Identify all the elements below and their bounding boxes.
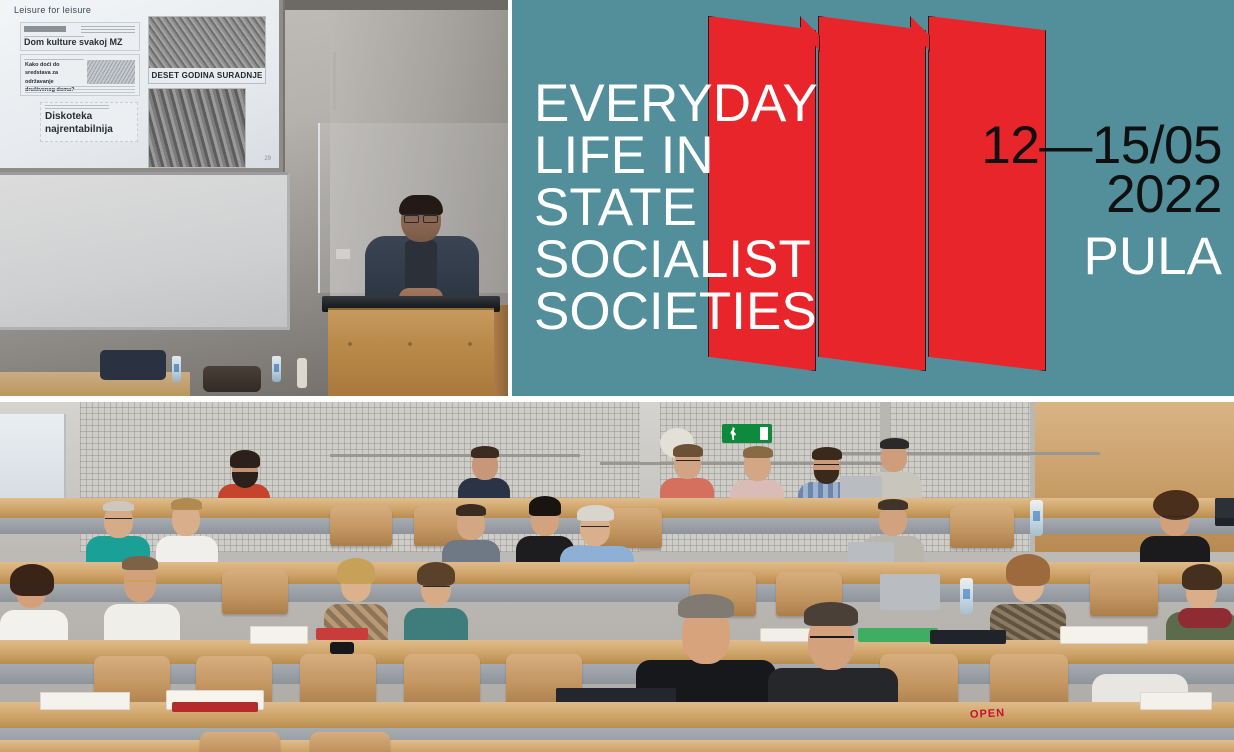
attendee (404, 562, 468, 648)
presentation-slide: Leisure for leisure Dom kulture svakoj M… (0, 0, 279, 168)
attendee-hair (337, 558, 375, 584)
attendee (104, 552, 180, 652)
glasses-icon (676, 460, 700, 467)
water-bottle (172, 356, 181, 382)
poster-title-line-4: SOCIALIST (534, 234, 818, 286)
water-bottle (1030, 500, 1043, 536)
top-row: Leisure for leisure Dom kulture svakoj M… (0, 0, 1234, 396)
running-man-icon (730, 427, 737, 440)
attendee (660, 442, 714, 506)
chair (310, 732, 390, 752)
glasses-icon (1162, 516, 1189, 524)
glasses-icon (105, 518, 132, 526)
attendee-hair (471, 446, 499, 458)
poster-title: EVERYDAY LIFE IN STATE SOCIALIST SOCIETI… (534, 78, 818, 338)
slide-title: Leisure for leisure (14, 5, 91, 15)
photo-lecture-speaker: Leisure for leisure Dom kulture svakoj M… (0, 0, 508, 396)
books (316, 628, 368, 640)
window (0, 414, 66, 502)
newspaper-clipping-2: Kako doći do sredstava za održavanje dru… (20, 54, 140, 96)
newspaper-clipping-3: Diskoteka najrentabilnija (40, 102, 138, 142)
chair (950, 506, 1014, 548)
attendee-hair (417, 562, 455, 586)
attendee-hair (812, 447, 842, 460)
lectern-knob (468, 342, 472, 346)
chair (100, 350, 166, 380)
chair (200, 732, 280, 752)
attendee (458, 442, 510, 504)
desk-sticker: OPEN (970, 707, 1006, 721)
chair (404, 654, 480, 706)
lectern-knob (408, 342, 412, 346)
chair (1090, 570, 1158, 616)
glasses-icon (810, 636, 854, 648)
attendee (442, 502, 500, 568)
papers (250, 626, 308, 644)
attendee-hair (1182, 564, 1222, 590)
water-bottle (272, 356, 281, 382)
attendee-hair (1006, 554, 1050, 586)
newspaper-clipping-1: Dom kulture svakoj MZ (20, 22, 140, 51)
chair (300, 654, 376, 706)
smartphone (330, 642, 354, 654)
poster-collage: Leisure for leisure Dom kulture svakoj M… (0, 0, 1234, 752)
laptop-lid (1215, 498, 1234, 518)
conference-poster: EVERYDAY LIFE IN STATE SOCIALIST SOCIETI… (512, 0, 1234, 396)
poster-title-line-5: SOCIETIES (534, 286, 818, 338)
laptop (1215, 498, 1234, 526)
attendee-hair (678, 594, 734, 618)
chair (330, 506, 392, 546)
desk-row-front (0, 740, 1234, 752)
clipping-3-headline: Diskoteka najrentabilnija (45, 111, 133, 136)
poster-title-line-3: STATE (534, 182, 818, 234)
poster-city: PULA (1084, 226, 1222, 287)
papers (40, 692, 130, 710)
slide-photo-handshake (148, 88, 246, 168)
exit-sign (722, 424, 772, 443)
attendee-hair (103, 501, 134, 511)
laptop (930, 630, 1006, 644)
red-panel-2-face (818, 16, 926, 371)
slide-photo-crowd: DESET GODINA SURADNJE (148, 16, 266, 84)
chair (222, 570, 288, 614)
slide-page-number: 29 (264, 156, 271, 162)
speaker-hair (399, 195, 443, 215)
bag (203, 366, 261, 392)
slide-photo-caption: DESET GODINA SURADNJE (149, 68, 265, 83)
attendee-hair (673, 444, 703, 457)
attendee-hair (577, 505, 614, 521)
whiteboard (0, 172, 290, 330)
lectern (328, 308, 494, 396)
attendee-hair (122, 556, 158, 570)
glasses-icon (814, 464, 839, 471)
glasses-icon (18, 588, 45, 596)
attendee-hair (743, 446, 773, 458)
red-panel-2 (818, 16, 926, 371)
exit-door-icon (760, 427, 768, 440)
wall-rail (330, 454, 580, 457)
attendee-hair (878, 499, 908, 510)
attendee (0, 562, 68, 652)
lectern-knob (348, 342, 352, 346)
sanitizer-bottle (297, 358, 307, 388)
poster-title-line-2: LIFE IN (534, 130, 818, 182)
attendee-hair (171, 498, 202, 510)
poster-date-line-2: 2022 (981, 171, 1222, 220)
poster-date-line-1: 12—15/05 (981, 122, 1222, 171)
wall-fixture (333, 52, 336, 110)
glasses-icon (404, 214, 438, 221)
attendee-hair (529, 496, 561, 516)
water-bottle (960, 578, 973, 614)
poster-dates: 12—15/05 2022 (981, 122, 1222, 220)
attendee-hair (230, 450, 260, 468)
scarf (1178, 608, 1232, 628)
clipping-1-headline: Dom kulture svakoj MZ (24, 38, 123, 47)
photo-audience-hall: OPEN (0, 402, 1234, 752)
books (1060, 626, 1148, 644)
books (172, 702, 258, 712)
poster-title-line-1: EVERYDAY (534, 78, 818, 130)
attendee-hair (804, 602, 858, 626)
chair (990, 654, 1068, 708)
attendee-hair (880, 438, 909, 449)
glasses-icon (125, 580, 155, 590)
attendee (730, 444, 784, 506)
glasses-icon (423, 586, 450, 594)
books (1140, 692, 1212, 710)
glasses-icon (581, 526, 609, 534)
projection-screen-frame: Leisure for leisure Dom kulture svakoj M… (0, 0, 285, 174)
attendee-hair (456, 504, 486, 516)
